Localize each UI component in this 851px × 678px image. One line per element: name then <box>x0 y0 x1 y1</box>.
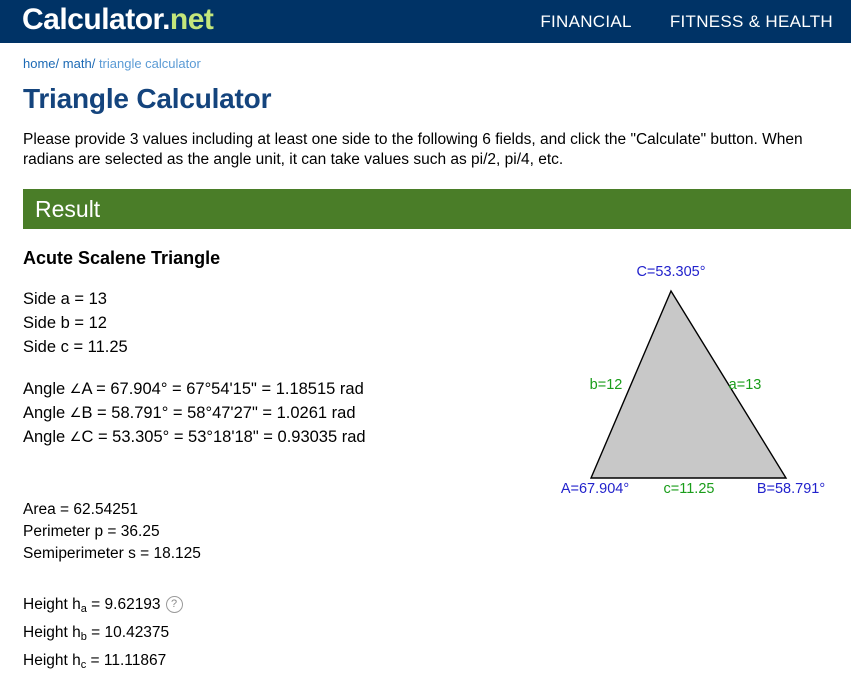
site-header: Calculator.net FINANCIAL FITNESS & HEALT… <box>0 0 851 43</box>
page-content: home/ math/ triangle calculator Triangle… <box>0 43 851 678</box>
breadcrumb: home/ math/ triangle calculator <box>23 43 851 71</box>
height-c-label: Height h <box>23 652 81 669</box>
breadcrumb-home[interactable]: home <box>23 56 56 71</box>
angle-c-value: C = 53.305° = 53°18'18" = 0.93035 rad <box>81 428 365 446</box>
angle-symbol-icon: ∠ <box>70 405 82 420</box>
height-c-value: = 11.11867 <box>86 652 166 669</box>
diagram-label-angle-c: C=53.305° <box>636 264 705 280</box>
semiperimeter-line: Semiperimeter s = 18.125 <box>23 543 851 565</box>
height-b-value: = 10.42375 <box>87 624 169 641</box>
diagram-label-angle-b: B=58.791° <box>757 481 825 494</box>
angle-a-value: A = 67.904° = 67°54'15" = 1.18515 rad <box>81 380 363 398</box>
heights-list: Height ha = 9.62193? Height hb = 10.4237… <box>23 593 851 677</box>
result-body: Acute Scalene Triangle Side a = 13 Side … <box>23 248 851 678</box>
breadcrumb-math[interactable]: math <box>63 56 92 71</box>
logo-text-calculator: Calculator <box>22 3 162 36</box>
height-a-value: = 9.62193 <box>87 596 161 613</box>
page-title: Triangle Calculator <box>23 83 851 115</box>
site-logo[interactable]: Calculator.net <box>22 0 213 41</box>
angle-c-prefix: Angle <box>23 428 70 446</box>
triangle-diagram: C=53.305° b=12 a=13 A=67.904° c=11.25 B=… <box>530 254 851 494</box>
nav-fitness-health[interactable]: FITNESS & HEALTH <box>670 12 833 32</box>
breadcrumb-separator-1: / <box>56 56 60 71</box>
logo-text-net: net <box>170 3 214 36</box>
height-a-label: Height h <box>23 596 81 613</box>
result-section-header: Result <box>23 189 851 229</box>
logo-text-dot: . <box>162 3 170 36</box>
breadcrumb-separator-2: / <box>92 56 96 71</box>
diagram-label-side-c: c=11.25 <box>664 481 715 494</box>
triangle-svg: C=53.305° b=12 a=13 A=67.904° c=11.25 B=… <box>530 254 851 494</box>
angle-a-prefix: Angle <box>23 380 70 398</box>
diagram-label-side-b: b=12 <box>590 377 623 393</box>
height-b-line: Height hb = 10.42375 <box>23 621 851 649</box>
diagram-label-side-a: a=13 <box>729 377 762 393</box>
angle-symbol-icon: ∠ <box>70 381 82 396</box>
page-intro-text: Please provide 3 values including at lea… <box>23 130 831 170</box>
angle-symbol-icon: ∠ <box>70 429 82 444</box>
nav-financial[interactable]: FINANCIAL <box>540 12 632 32</box>
perimeter-line: Perimeter p = 36.25 <box>23 521 851 543</box>
height-b-label: Height h <box>23 624 81 641</box>
diagram-label-angle-a: A=67.904° <box>561 481 629 494</box>
height-c-line: Height hc = 11.11867 <box>23 649 851 677</box>
breadcrumb-current: triangle calculator <box>99 56 201 71</box>
primary-nav: FINANCIAL FITNESS & HEALTH <box>540 0 833 43</box>
metrics-list: Area = 62.54251 Perimeter p = 36.25 Semi… <box>23 499 851 565</box>
area-line: Area = 62.54251 <box>23 499 851 521</box>
angle-b-prefix: Angle <box>23 404 70 422</box>
help-icon[interactable]: ? <box>166 596 183 613</box>
height-a-line: Height ha = 9.62193? <box>23 593 851 621</box>
angle-b-value: B = 58.791° = 58°47'27" = 1.0261 rad <box>81 404 355 422</box>
